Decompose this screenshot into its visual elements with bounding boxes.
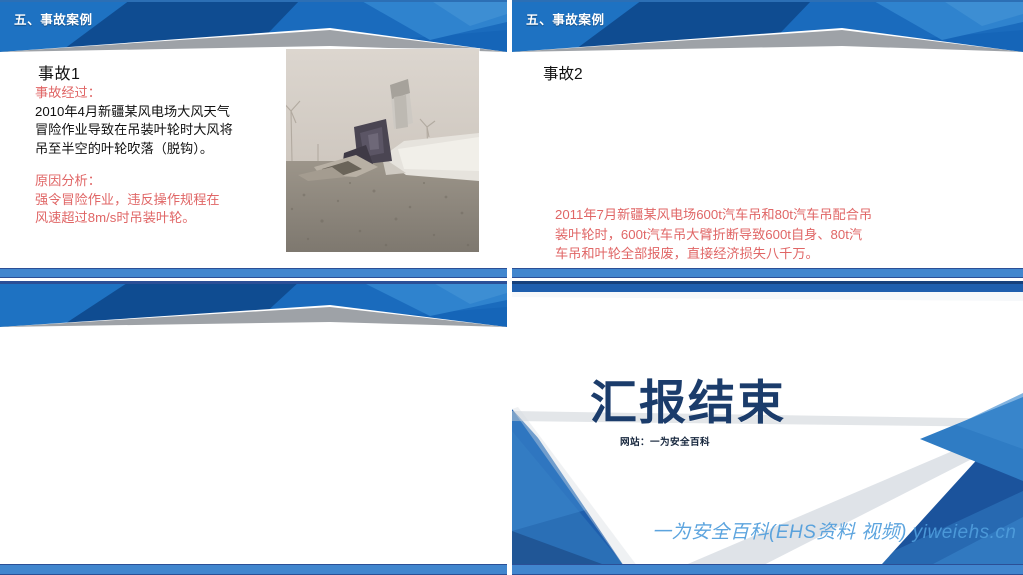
process-line: 冒险作业导致在吊装叶轮时大风将 — [35, 121, 280, 140]
photo-1-graphic — [286, 49, 479, 252]
accident-description-block: 2011年7月新疆某风电场600t汽车吊和80t汽车吊配合吊 装叶轮时，600t… — [555, 205, 995, 264]
page-title: 五、事故案例 — [14, 9, 93, 28]
process-label: 事故经过： — [35, 84, 280, 103]
process-line: 2010年4月新疆某风电场大风天气 — [35, 103, 280, 122]
slide-footer-bar — [512, 564, 1023, 575]
slide-accident-1[interactable]: 五、事故案例 事故1 事故经过： 2010年4月新疆某风电场大风天气 冒险作业导… — [0, 0, 507, 278]
description-line: 车吊和叶轮全部报废，直接经济损失八千万。 — [555, 244, 995, 264]
description-line: 2011年7月新疆某风电场600t汽车吊和80t汽车吊配合吊 — [555, 205, 995, 225]
slide-header-banner: 五、事故案例 — [512, 0, 1023, 52]
watermark-text: 一为安全百科(EHS资料 视频) yiweiehs.cn — [652, 517, 1017, 544]
slide-thumbnail-grid: 五、事故案例 事故1 事故经过： 2010年4月新疆某风电场大风天气 冒险作业导… — [0, 0, 1023, 575]
slide-footer-bar — [0, 268, 507, 278]
accident-heading: 事故2 — [543, 62, 583, 84]
slide-end[interactable]: 汇报结束 网站：一为安全百科 一为安全百科(EHS资料 视频) yiweiehs… — [512, 281, 1023, 575]
accident-heading: 事故1 — [38, 60, 80, 84]
slide-blank[interactable] — [0, 281, 507, 575]
slide-header-banner — [0, 281, 507, 327]
slide-header-banner: 五、事故案例 — [0, 0, 507, 52]
accident-process-block: 事故经过： 2010年4月新疆某风电场大风天气 冒险作业导致在吊装叶轮时大风将 … — [35, 84, 280, 159]
collapsed-wind-turbine-blade-photo — [286, 49, 479, 252]
description-line: 装叶轮时，600t汽车吊大臂折断导致600t自身、80t汽 — [555, 225, 995, 245]
page-title: 五、事故案例 — [526, 9, 605, 28]
end-slide-subtitle: 网站：一为安全百科 — [620, 434, 710, 448]
slide-footer-bar — [0, 564, 507, 575]
cause-label: 原因分析： — [35, 172, 285, 191]
end-slide-title: 汇报结束 — [590, 364, 786, 433]
slide-accident-2[interactable]: 五、事故案例 事故2 — [512, 0, 1023, 278]
process-line: 吊至半空的叶轮吹落（脱钩）。 — [35, 140, 280, 159]
slide-footer-bar — [512, 268, 1023, 278]
cause-line: 风速超过8m/s时吊装叶轮。 — [35, 209, 285, 228]
accident-cause-block: 原因分析： 强令冒险作业，违反操作规程在 风速超过8m/s时吊装叶轮。 — [35, 172, 285, 228]
banner-decoration-shapes — [0, 281, 507, 327]
cause-line: 强令冒险作业，违反操作规程在 — [35, 191, 285, 210]
